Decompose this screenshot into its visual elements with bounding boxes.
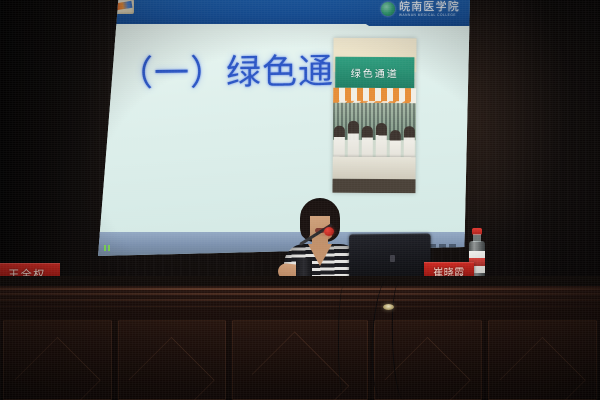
stage-rail: [0, 288, 600, 290]
university-name-cn: 皖南医学院: [399, 1, 460, 12]
footer-mark: [439, 244, 446, 248]
wall-left-shadow: [0, 0, 110, 300]
laptop-logo-icon: [390, 255, 395, 262]
cable: [338, 286, 349, 396]
university-logo-text: 皖南医学院 WANNAN MEDICAL COLLEGE: [399, 1, 460, 17]
photo-ground: [332, 179, 415, 194]
stage-rail: [0, 293, 600, 295]
stage-panel: [3, 320, 112, 400]
green-indicator-icon: [104, 245, 112, 251]
stage-panel: [118, 320, 227, 400]
stage-rail: [0, 299, 600, 301]
stage-panel: [488, 320, 597, 400]
auditorium-photo: 皖南医学院 WANNAN MEDICAL COLLEGE （一）绿色通道 绿色通…: [0, 0, 600, 400]
stage-panel-row: [0, 316, 600, 400]
stage-edge-light-icon: [383, 304, 394, 310]
stage-rail: [0, 306, 600, 307]
photo-banner-text: 绿色通道: [351, 64, 399, 79]
microphone-icon: [324, 227, 334, 236]
circular-seal-emblem-icon: [381, 2, 395, 16]
university-name-en: WANNAN MEDICAL COLLEGE: [399, 14, 460, 18]
laptop: [348, 234, 430, 279]
presenter-hair-left: [301, 208, 310, 238]
stage-front-paneling: [0, 286, 600, 400]
photo-registration-table: [333, 157, 416, 179]
slide-photo-green-channel: 绿色通道: [332, 38, 416, 194]
university-logo: 皖南医学院 WANNAN MEDICAL COLLEGE: [381, 1, 460, 17]
photo-banner: 绿色通道: [335, 56, 415, 88]
